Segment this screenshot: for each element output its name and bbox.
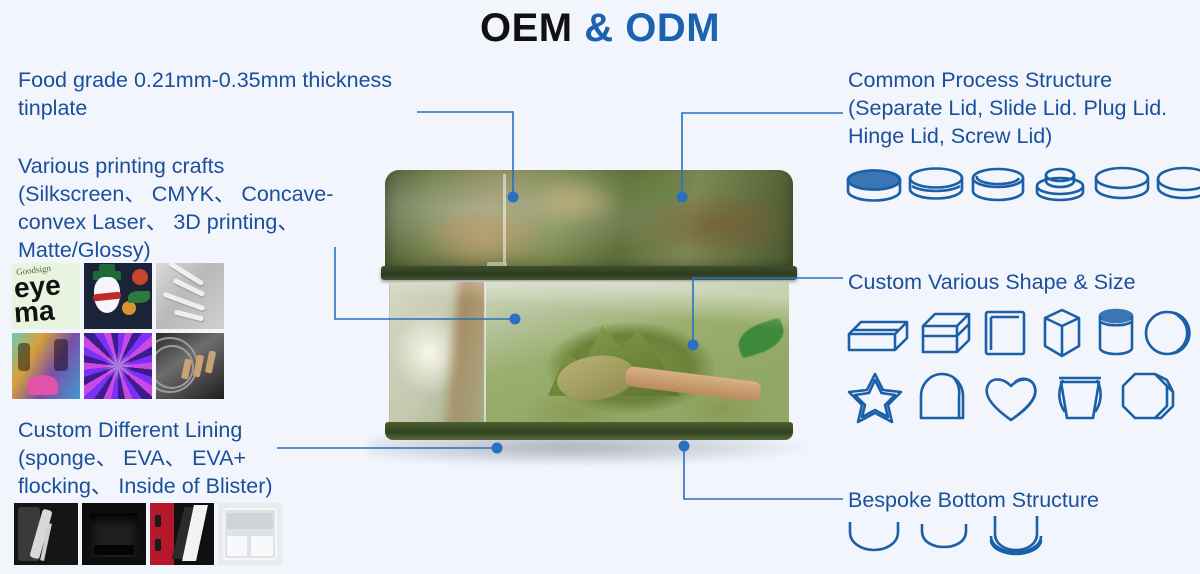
screw-lid-icon[interactable] bbox=[1155, 164, 1200, 210]
lining-samples-grid bbox=[14, 503, 282, 565]
double-seam-bottom-icon[interactable] bbox=[985, 514, 1047, 560]
callout-shape-size-text: Custom Various Shape & Size bbox=[848, 268, 1200, 296]
print-sample-thumb[interactable] bbox=[84, 333, 152, 399]
callout-printing-text: Various printing crafts (Silkscreen、 CMY… bbox=[18, 152, 428, 264]
lining-sample-thumb[interactable] bbox=[82, 503, 146, 565]
heart-shape-icon[interactable] bbox=[981, 368, 1043, 424]
shallow-bottom-icon[interactable] bbox=[917, 516, 971, 558]
slide-lid-icon[interactable] bbox=[907, 164, 965, 210]
shape-icons-row-two bbox=[845, 368, 1177, 424]
callout-dot-process bbox=[677, 192, 688, 203]
title-odm: & ODM bbox=[584, 6, 720, 50]
curved-bottom-icon[interactable] bbox=[845, 516, 903, 558]
stepped-lid-icon[interactable] bbox=[1031, 164, 1089, 210]
lining-sample-thumb[interactable] bbox=[14, 503, 78, 565]
lining-sample-thumb[interactable] bbox=[218, 503, 282, 565]
matcha-tin-box-image bbox=[375, 170, 800, 450]
lining-sample-thumb[interactable] bbox=[150, 503, 214, 565]
round-tin-icon[interactable] bbox=[1143, 306, 1197, 360]
callout-dot-printing bbox=[510, 314, 521, 325]
cube-box-icon[interactable] bbox=[917, 306, 975, 360]
lid-icons-row bbox=[845, 164, 1200, 210]
hinge-lid-icon[interactable] bbox=[1093, 164, 1151, 210]
print-sample-thumb[interactable] bbox=[156, 263, 224, 329]
callout-food-grade-text: Food grade 0.21mm-0.35mm thickness tinpl… bbox=[18, 66, 448, 122]
bottom-structure-icons-row bbox=[845, 514, 1047, 560]
flat-rectangular-tin-icon[interactable] bbox=[981, 306, 1029, 360]
title-oem: OEM bbox=[480, 6, 584, 50]
bucket-pail-icon[interactable] bbox=[1051, 368, 1109, 424]
dome-shape-icon[interactable] bbox=[915, 368, 973, 424]
callout-process-structure-text: Common Process Structure (Separate Lid, … bbox=[848, 66, 1200, 150]
separate-lid-icon[interactable] bbox=[845, 164, 903, 210]
rectangular-box-icon[interactable] bbox=[845, 306, 911, 360]
star-shape-icon[interactable] bbox=[845, 368, 907, 424]
page-title: OEM & ODM bbox=[0, 6, 1200, 51]
print-sample-thumb[interactable]: Goodsign eye ma bbox=[12, 263, 80, 329]
plug-lid-icon[interactable] bbox=[969, 164, 1027, 210]
print-sample-thumb[interactable] bbox=[84, 263, 152, 329]
octagon-shape-icon[interactable] bbox=[1117, 368, 1177, 424]
callout-dot-bottom bbox=[679, 441, 690, 452]
cylinder-tin-icon[interactable] bbox=[1095, 306, 1137, 360]
hexagonal-prism-icon[interactable] bbox=[1035, 306, 1089, 360]
print-sample-thumb[interactable] bbox=[12, 333, 80, 399]
callout-dot-lining bbox=[492, 443, 503, 454]
callout-lining-text: Custom Different Lining (sponge、 EVA、 EV… bbox=[18, 416, 418, 500]
printing-samples-grid: Goodsign eye ma bbox=[12, 263, 224, 399]
shape-icons-row-one bbox=[845, 306, 1197, 360]
callout-dot-shape bbox=[688, 340, 699, 351]
callout-dot-food-grade bbox=[508, 192, 519, 203]
sample-word-two: ma bbox=[13, 295, 56, 329]
callout-bottom-structure-text: Bespoke Bottom Structure bbox=[848, 486, 1200, 514]
print-sample-thumb[interactable] bbox=[156, 333, 224, 399]
oem-odm-infographic: OEM & ODM Food grade 0.21mm-0.35mm thick… bbox=[0, 0, 1200, 574]
